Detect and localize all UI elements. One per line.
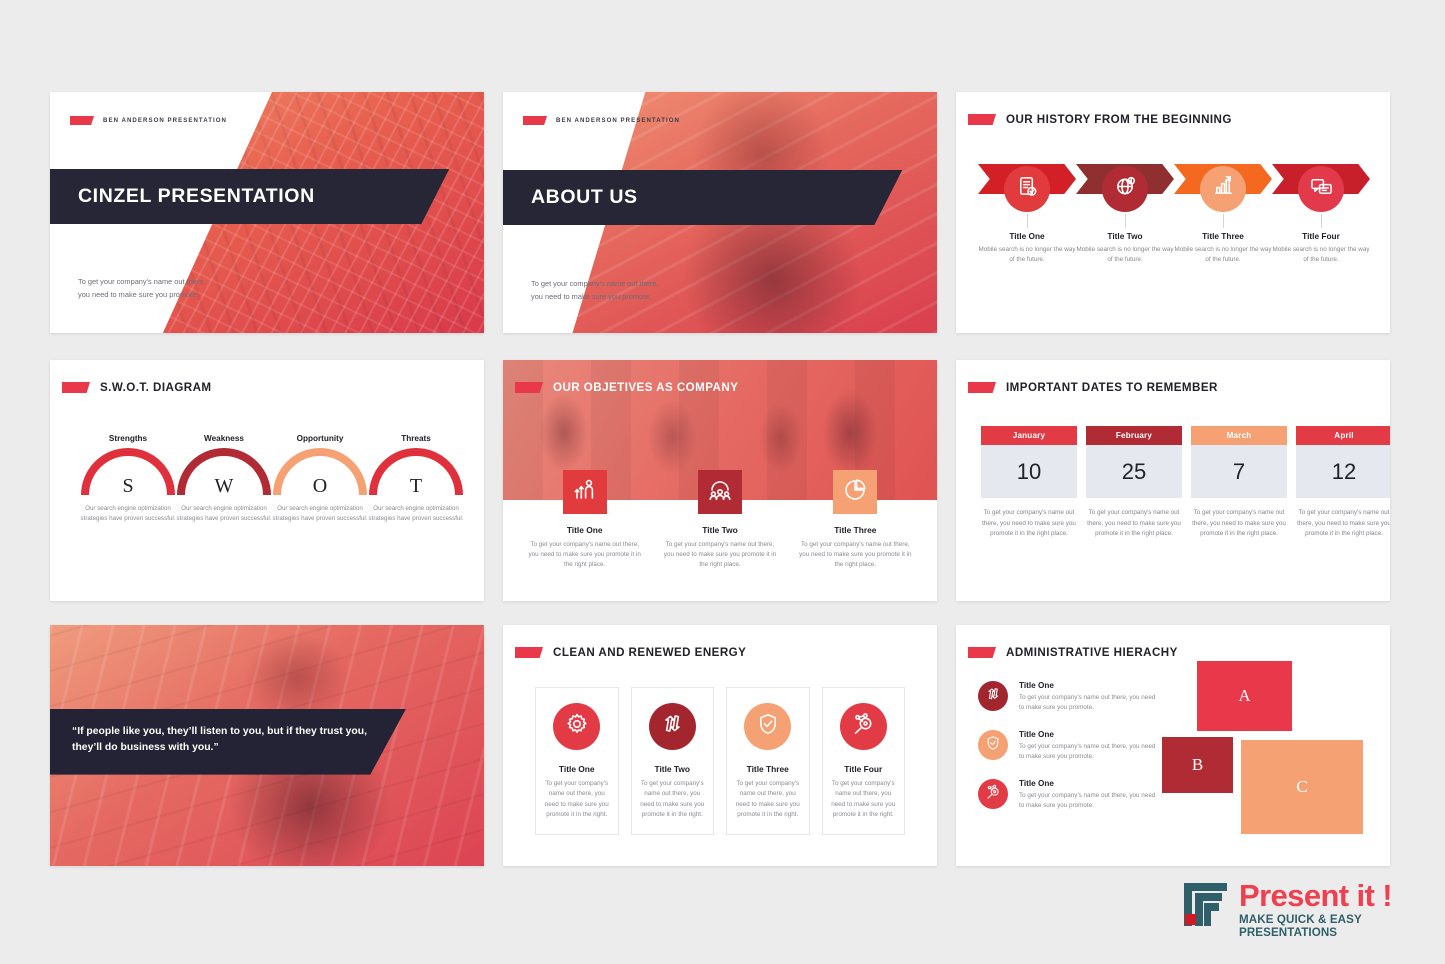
calendar-list: January 10 To get your company's name ou… [981,426,1365,540]
section-header: ADMINISTRATIVE HIERACHY [968,646,1178,659]
objective-icon-tile [698,470,742,514]
tab-marker-icon [968,647,996,658]
swot-item[interactable]: Opportunity O Our search engine optimiza… [272,434,368,524]
timeline-icon-circle [1004,166,1050,212]
team-group-icon [708,478,732,507]
swot-letter: W [177,475,271,498]
card-icon-circle [744,703,791,750]
timeline-item[interactable]: Title Two Mobile search is no longer the… [1076,164,1174,265]
hierarchy-icon-circle [978,779,1008,809]
hierarchy-icon-circle [978,730,1008,760]
swot-item[interactable]: Weakness W Our search engine optimizatio… [176,434,272,524]
card-icon-circle [840,703,887,750]
tab-marker-icon [515,647,543,658]
brand-line: BEN ANDERSON PRESENTATION [70,116,227,125]
timeline-item[interactable]: Title Four Mobile search is no longer th… [1272,164,1370,265]
tab-marker-icon [70,116,94,125]
slide-administrative-hierarchy[interactable]: ADMINISTRATIVE HIERACHY Title One To get… [956,625,1390,866]
hierarchy-list: Title One To get your company's name out… [978,681,1158,828]
calendar-month-header: January [981,426,1077,445]
card-desc: To get your company's name out there, yo… [734,779,802,821]
swot-arc-wrapper: S [81,448,175,496]
timeline-stem [1125,214,1126,228]
objective-item[interactable]: Title One To get your company's name out… [517,470,652,570]
hierarchy-item-text: Title One To get your company's name out… [1019,730,1158,762]
brand-label: BEN ANDERSON PRESENTATION [556,117,680,124]
logo-title: Present it ! [1239,881,1445,910]
slide-timeline-history[interactable]: OUR HISTORY FROM THE BEGINNING Title One… [956,92,1390,333]
hierarchy-item-title: Title One [1019,730,1158,739]
hierarchy-item-desc: To get your company's name out there, yo… [1019,693,1158,713]
hierarchy-item-title: Title One [1019,681,1158,690]
swot-item[interactable]: Strengths S Our search engine optimizati… [80,434,176,524]
calendar-item-desc: To get your company's name out there, yo… [1191,508,1287,540]
calendar-day-body: 12 [1296,445,1390,498]
logo-mark-icon [1182,881,1229,928]
swot-letter: O [273,475,367,498]
card-icon-circle [553,703,600,750]
exchange-arrows-icon [985,686,1001,707]
hierarchy-item-desc: To get your company's name out there, yo… [1019,742,1158,762]
slide-title: OUR HISTORY FROM THE BEGINNING [1006,113,1232,126]
swot-item-desc: Our search engine optimization strategie… [368,504,464,524]
section-header: OUR HISTORY FROM THE BEGINNING [968,113,1232,126]
shield-check-icon [985,735,1001,756]
slide-swot-diagram[interactable]: S.W.O.T. DIAGRAM Strengths S Our search … [50,360,484,601]
exchange-arrows-icon [660,712,684,741]
calendar-day-number: 12 [1332,459,1356,485]
objective-icon-tile [833,470,877,514]
timeline-item-title: Title Four [1302,231,1340,241]
card-title: Title Three [747,764,789,774]
calendar-day-body: 25 [1086,445,1182,498]
calendar-day-number: 25 [1122,459,1146,485]
objective-item[interactable]: Title Three To get your company's name o… [788,470,923,570]
hierarchy-item-text: Title One To get your company's name out… [1019,681,1158,713]
calendar-month-header: February [1086,426,1182,445]
timeline-item[interactable]: Title One Mobile search is no longer the… [978,164,1076,265]
growth-people-icon [573,478,597,507]
energy-card[interactable]: Title Three To get your company's name o… [726,687,810,835]
tab-marker-icon [968,382,996,393]
quote-banner: “If people like you, they’ll listen to y… [50,709,406,775]
timeline-item-title: Title One [1009,231,1044,241]
slide-title: ADMINISTRATIVE HIERACHY [1006,646,1178,659]
present-it-logo: Present it ! MAKE QUICK & EASY PRESENTAT… [1182,881,1445,939]
section-header: CLEAN AND RENEWED ENERGY [515,646,746,659]
calendar-item[interactable]: April 12 To get your company's name out … [1296,426,1390,540]
timeline-icon-circle [1298,166,1344,212]
swot-item-label: Strengths [109,434,147,443]
tab-marker-icon [523,116,547,125]
calendar-day-number: 10 [1017,459,1041,485]
swot-letter: T [369,475,463,498]
timeline-icon-circle [1200,166,1246,212]
section-header: OUR OBJETIVES AS COMPANY [515,381,738,394]
calendar-month-header: April [1296,426,1390,445]
slide-title: OUR OBJETIVES AS COMPANY [553,381,738,394]
title-banner: ABOUT US [503,170,902,225]
slide-subtitle: To get your company's name out there, yo… [531,278,659,304]
timeline-item-desc: Mobile search is no longer the way of th… [978,245,1076,265]
swot-arc-wrapper: O [273,448,367,496]
card-desc: To get your company's name out there, yo… [639,779,707,821]
subtitle-line-2: you need to make sure you promote. [78,289,206,302]
energy-card[interactable]: Title Two To get your company's name out… [631,687,715,835]
slide-title: CINZEL PRESENTATION [78,185,315,208]
swot-item-desc: Our search engine optimization strategie… [176,504,272,524]
hierarchy-box-b[interactable]: B [1162,737,1233,793]
logo-subtitle: MAKE QUICK & EASY PRESENTATIONS [1239,913,1445,939]
timeline-item-desc: Mobile search is no longer the way of th… [1272,245,1370,265]
shield-check-icon [756,712,780,741]
subtitle-line-1: To get your company's name out there, [78,276,206,289]
slide-cover-about-us[interactable]: BEN ANDERSON PRESENTATION ABOUT US To ge… [503,92,937,333]
swot-arc-wrapper: W [177,448,271,496]
calendar-day-body: 10 [981,445,1077,498]
timeline-item-title: Title Two [1107,231,1142,241]
tab-marker-icon [515,382,543,393]
section-header: IMPORTANT DATES TO REMEMBER [968,381,1218,394]
energy-card[interactable]: Title Four To get your company's name ou… [822,687,906,835]
timeline-list: Title One Mobile search is no longer the… [978,164,1368,265]
quote-text: “If people like you, they’ll listen to y… [72,724,380,756]
hierarchy-item-desc: To get your company's name out there, yo… [1019,791,1158,811]
hierarchy-item[interactable]: Title One To get your company's name out… [978,779,1158,811]
swot-list: Strengths S Our search engine optimizati… [80,434,454,524]
chat-bubbles-icon [1310,175,1333,203]
objective-icon-tile [563,470,607,514]
timeline-item-desc: Mobile search is no longer the way of th… [1174,245,1272,265]
slide-cover-cinzel[interactable]: BEN ANDERSON PRESENTATION CINZEL PRESENT… [50,92,484,333]
search-network-icon [851,712,875,741]
objective-item[interactable]: Title Two To get your company's name out… [652,470,787,570]
hierarchy-box-a[interactable]: A [1197,661,1292,731]
hierarchy-item[interactable]: Title One To get your company's name out… [978,730,1158,762]
swot-item-desc: Our search engine optimization strategie… [272,504,368,524]
objectives-list: Title One To get your company's name out… [517,470,923,570]
swot-item-desc: Our search engine optimization strategie… [80,504,176,524]
hierarchy-item[interactable]: Title One To get your company's name out… [978,681,1158,713]
objective-item-title: Title Three [834,525,876,535]
brand-line: BEN ANDERSON PRESENTATION [523,116,680,125]
timeline-icon-circle [1102,166,1148,212]
slide-title: CLEAN AND RENEWED ENERGY [553,646,746,659]
presentation-template-preview: BEN ANDERSON PRESENTATION CINZEL PRESENT… [0,0,1445,964]
section-header: S.W.O.T. DIAGRAM [62,381,212,394]
slide-subtitle: To get your company's name out there, yo… [78,276,206,302]
calendar-item-desc: To get your company's name out there, yo… [1086,508,1182,540]
calendar-item[interactable]: February 25 To get your company's name o… [1086,426,1182,540]
timeline-item-desc: Mobile search is no longer the way of th… [1076,245,1174,265]
timeline-item[interactable]: Title Three Mobile search is no longer t… [1174,164,1272,265]
card-icon-circle [649,703,696,750]
timeline-item-title: Title Three [1202,231,1244,241]
objective-item-desc: To get your company's name out there, yo… [662,540,778,570]
energy-card[interactable]: Title One To get your company's name out… [535,687,619,835]
slide-clean-energy[interactable]: CLEAN AND RENEWED ENERGY Title One To ge… [503,625,937,866]
calendar-item[interactable]: March 7 To get your company's name out t… [1191,426,1287,540]
swot-item-label: Opportunity [297,434,344,443]
calendar-day-number: 7 [1233,459,1245,485]
card-list: Title One To get your company's name out… [535,687,905,835]
card-desc: To get your company's name out there, yo… [543,779,611,821]
timeline-stem [1223,214,1224,228]
gear-icon [565,712,589,741]
hierarchy-icon-circle [978,681,1008,711]
tab-marker-icon [968,114,996,125]
objective-item-desc: To get your company's name out there, yo… [527,540,643,570]
timeline-stem [1027,214,1028,228]
slide-quote[interactable]: “If people like you, they’ll listen to y… [50,625,484,866]
swot-item[interactable]: Threats T Our search engine optimization… [368,434,464,524]
hierarchy-item-title: Title One [1019,779,1158,788]
objective-item-title: Title Two [702,525,738,535]
timeline-stem [1321,214,1322,228]
slide-objectives[interactable]: OUR OBJETIVES AS COMPANY Title One To ge… [503,360,937,601]
calendar-day-body: 7 [1191,445,1287,498]
slide-title: S.W.O.T. DIAGRAM [100,381,212,394]
slide-title: IMPORTANT DATES TO REMEMBER [1006,381,1218,394]
card-desc: To get your company's name out there, yo… [830,779,898,821]
card-title: Title Two [654,764,690,774]
subtitle-line-2: you need to make sure you promote. [531,291,659,304]
calendar-item[interactable]: January 10 To get your company's name ou… [981,426,1077,540]
swot-letter: S [81,475,175,498]
tab-marker-icon [62,382,90,393]
document-check-icon [1016,175,1039,203]
swot-item-label: Threats [401,434,431,443]
objective-item-desc: To get your company's name out there, yo… [797,540,913,570]
swot-item-label: Weakness [204,434,244,443]
card-title: Title One [559,764,595,774]
logo-text: Present it ! MAKE QUICK & EASY PRESENTAT… [1239,881,1445,939]
calendar-item-desc: To get your company's name out there, yo… [1296,508,1390,540]
objective-item-title: Title One [567,525,603,535]
title-banner: CINZEL PRESENTATION [50,169,449,224]
hierarchy-item-text: Title One To get your company's name out… [1019,779,1158,811]
hierarchy-box-c[interactable]: C [1241,740,1363,834]
bar-chart-growth-icon [1212,175,1235,203]
brand-label: BEN ANDERSON PRESENTATION [103,117,227,124]
search-network-icon [985,784,1001,805]
globe-target-icon [1114,175,1137,203]
swot-arc-wrapper: T [369,448,463,496]
card-title: Title Four [844,764,882,774]
calendar-item-desc: To get your company's name out there, yo… [981,508,1077,540]
calendar-month-header: March [1191,426,1287,445]
slide-title: ABOUT US [531,186,638,209]
slide-important-dates[interactable]: IMPORTANT DATES TO REMEMBER January 10 T… [956,360,1390,601]
pie-chart-icon [843,478,867,507]
subtitle-line-1: To get your company's name out there, [531,278,659,291]
